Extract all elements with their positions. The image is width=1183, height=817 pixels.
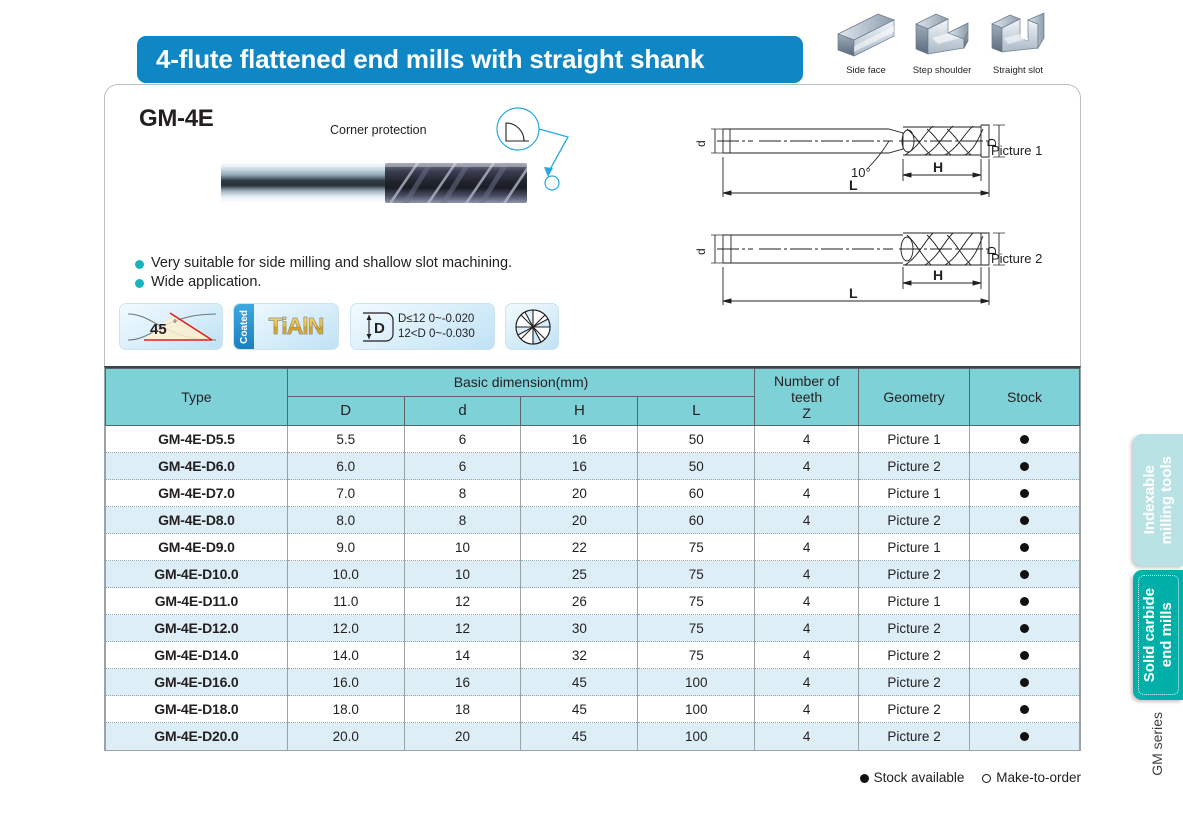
sidebar-tab-label: Solid carbideend mills <box>1141 588 1175 682</box>
cell-H: 25 <box>521 561 638 588</box>
cell-D: 8.0 <box>287 507 404 534</box>
cell-L: 75 <box>638 642 755 669</box>
cell-d: 8 <box>404 480 521 507</box>
table-row: GM-4E-D20.020.020451004Picture 2 <box>106 723 1080 750</box>
cell-d: 14 <box>404 642 521 669</box>
cell-stock <box>970 642 1080 669</box>
cell-D: 16.0 <box>287 669 404 696</box>
cell-D: 14.0 <box>287 642 404 669</box>
cell-geometry: Picture 2 <box>859 615 970 642</box>
cell-stock <box>970 588 1080 615</box>
cell-L: 50 <box>638 426 755 453</box>
tolerance-symbol: D <box>374 320 385 337</box>
cell-geometry: Picture 2 <box>859 696 970 723</box>
cell-type: GM-4E-D5.5 <box>106 426 288 453</box>
col-header-teeth: Number of teeth Z <box>755 369 859 426</box>
operation-icons: Side face Step shoulder Straight slot <box>828 4 1058 86</box>
filled-circle-icon <box>1020 624 1029 633</box>
filled-circle-icon <box>1020 705 1029 714</box>
cell-type: GM-4E-D16.0 <box>106 669 288 696</box>
helix-angle-unit: ° <box>173 319 177 330</box>
coated-label: Coated <box>239 310 250 344</box>
filled-circle-icon <box>1020 678 1029 687</box>
table-row: GM-4E-D16.016.016451004Picture 2 <box>106 669 1080 696</box>
table-row: GM-4E-D12.012.01230754Picture 2 <box>106 615 1080 642</box>
cell-D: 11.0 <box>287 588 404 615</box>
cell-d: 6 <box>404 426 521 453</box>
page-title-banner: 4-flute flattened end mills with straigh… <box>137 36 803 83</box>
cell-type: GM-4E-D6.0 <box>106 453 288 480</box>
cell-type: GM-4E-D7.0 <box>106 480 288 507</box>
table-row: GM-4E-D5.55.5616504Picture 1 <box>106 426 1080 453</box>
operation-side-face: Side face <box>828 8 904 76</box>
feature-item: Wide application. <box>135 274 555 291</box>
filled-circle-icon <box>1020 543 1029 552</box>
cell-H: 26 <box>521 588 638 615</box>
helix-angle-value: 45 <box>150 321 167 338</box>
cell-stock <box>970 669 1080 696</box>
straight-slot-icon <box>986 8 1050 64</box>
dim-label-d: d <box>694 248 708 255</box>
side-face-icon <box>834 8 898 64</box>
cell-Z: 4 <box>755 696 859 723</box>
cell-geometry: Picture 1 <box>859 480 970 507</box>
cell-stock <box>970 480 1080 507</box>
col-header-D: D <box>287 396 404 425</box>
cell-type: GM-4E-D20.0 <box>106 723 288 750</box>
helix-angle-badge: 45 ° <box>119 303 223 350</box>
cell-d: 12 <box>404 615 521 642</box>
cell-L: 50 <box>638 453 755 480</box>
cell-L: 60 <box>638 480 755 507</box>
cell-stock <box>970 615 1080 642</box>
feature-item: Very suitable for side milling and shall… <box>135 255 555 272</box>
cell-D: 12.0 <box>287 615 404 642</box>
cell-H: 45 <box>521 669 638 696</box>
operation-step-shoulder: Step shoulder <box>904 8 980 76</box>
sidebar-tab-indexable-milling-tools[interactable]: Indexablemilling tools <box>1133 434 1183 566</box>
cell-Z: 4 <box>755 723 859 750</box>
legend-label: Stock available <box>874 770 965 785</box>
cell-H: 20 <box>521 480 638 507</box>
tolerance-line-1: D≤12 0~-0.020 <box>398 312 475 327</box>
cell-d: 12 <box>404 588 521 615</box>
cell-d: 10 <box>404 534 521 561</box>
cell-D: 9.0 <box>287 534 404 561</box>
product-photo <box>213 157 543 209</box>
cell-type: GM-4E-D9.0 <box>106 534 288 561</box>
cell-geometry: Picture 1 <box>859 534 970 561</box>
cell-d: 20 <box>404 723 521 750</box>
flute-count-badge <box>505 303 559 350</box>
cell-type: GM-4E-D18.0 <box>106 696 288 723</box>
table-body: GM-4E-D5.55.5616504Picture 1GM-4E-D6.06.… <box>106 426 1080 750</box>
cell-L: 100 <box>638 696 755 723</box>
filled-circle-icon <box>1020 732 1029 741</box>
sidebar-tab-solid-carbide-end-mills[interactable]: Solid carbideend mills <box>1133 570 1183 700</box>
cell-geometry: Picture 2 <box>859 669 970 696</box>
operation-label: Step shoulder <box>904 65 980 76</box>
cell-Z: 4 <box>755 615 859 642</box>
legend-make-to-order: Make-to-order <box>982 770 1081 785</box>
dim-label-L: L <box>849 285 858 301</box>
legend-label: Make-to-order <box>996 770 1081 785</box>
cell-geometry: Picture 2 <box>859 723 970 750</box>
cell-D: 6.0 <box>287 453 404 480</box>
col-header-basic-dimension: Basic dimension(mm) <box>287 369 754 397</box>
cell-Z: 4 <box>755 453 859 480</box>
filled-circle-icon <box>1020 597 1029 606</box>
helix-angle-icon: 45 ° <box>120 304 223 350</box>
table-row: GM-4E-D18.018.018451004Picture 2 <box>106 696 1080 723</box>
coating-badge: Coated TiAlN <box>233 303 339 350</box>
cell-geometry: Picture 1 <box>859 588 970 615</box>
cell-type: GM-4E-D14.0 <box>106 642 288 669</box>
cell-H: 45 <box>521 723 638 750</box>
tolerance-line-2: 12<D 0~-0.030 <box>398 327 475 342</box>
four-flute-cross-section-icon <box>506 304 559 350</box>
table-row: GM-4E-D8.08.0820604Picture 2 <box>106 507 1080 534</box>
cell-d: 8 <box>404 507 521 534</box>
step-shoulder-icon <box>910 8 974 64</box>
hollow-circle-icon <box>982 774 991 783</box>
cell-D: 5.5 <box>287 426 404 453</box>
end-mill-photo-icon <box>213 157 543 209</box>
cell-Z: 4 <box>755 588 859 615</box>
filled-circle-icon <box>1020 651 1029 660</box>
cell-Z: 4 <box>755 480 859 507</box>
filled-circle-icon <box>1020 516 1029 525</box>
product-title: GM-4E <box>139 105 214 133</box>
series-text: GM series <box>1149 712 1165 776</box>
cell-geometry: Picture 1 <box>859 426 970 453</box>
feature-list: Very suitable for side milling and shall… <box>135 255 555 293</box>
filled-circle-icon <box>1020 462 1029 471</box>
cell-Z: 4 <box>755 426 859 453</box>
stock-legend: Stock available Make-to-order <box>0 770 1081 785</box>
table-header-row-1: Type Basic dimension(mm) Number of teeth… <box>106 369 1080 397</box>
cell-H: 30 <box>521 615 638 642</box>
table-row: GM-4E-D7.07.0820604Picture 1 <box>106 480 1080 507</box>
cell-H: 16 <box>521 453 638 480</box>
col-header-stock: Stock <box>970 369 1080 426</box>
table-row: GM-4E-D11.011.01226754Picture 1 <box>106 588 1080 615</box>
col-header-d: d <box>404 396 521 425</box>
page-title: 4-flute flattened end mills with straigh… <box>137 44 704 75</box>
coating-name: TiAlN <box>256 304 336 349</box>
table-row: GM-4E-D6.06.0616504Picture 2 <box>106 453 1080 480</box>
tolerance-text: D≤12 0~-0.020 12<D 0~-0.030 <box>398 312 475 342</box>
cell-D: 7.0 <box>287 480 404 507</box>
cell-geometry: Picture 2 <box>859 561 970 588</box>
dim-label-d: d <box>694 140 708 147</box>
cell-H: 16 <box>521 426 638 453</box>
table-row: GM-4E-D10.010.01025754Picture 2 <box>106 561 1080 588</box>
product-card: GM-4E Corner protection <box>104 84 1081 366</box>
teeth-line-2: teeth <box>757 389 856 405</box>
cell-D: 10.0 <box>287 561 404 588</box>
cell-d: 16 <box>404 669 521 696</box>
col-header-L: L <box>638 396 755 425</box>
cell-L: 100 <box>638 723 755 750</box>
feature-text: Wide application. <box>151 274 261 291</box>
sidebar-tab-label: Indexablemilling tools <box>1141 456 1175 544</box>
cell-L: 75 <box>638 615 755 642</box>
col-header-type: Type <box>106 369 288 426</box>
bullet-dot-icon <box>135 279 144 288</box>
diameter-tolerance-icon: D <box>353 304 399 350</box>
tolerance-badge: D D≤12 0~-0.020 12<D 0~-0.030 <box>350 303 495 350</box>
cell-Z: 4 <box>755 507 859 534</box>
cell-type: GM-4E-D12.0 <box>106 615 288 642</box>
sidebar-series-label: GM series <box>1137 704 1177 784</box>
filled-circle-icon <box>1020 570 1029 579</box>
dim-label-L: L <box>849 177 858 193</box>
cell-H: 22 <box>521 534 638 561</box>
cell-L: 100 <box>638 669 755 696</box>
cell-d: 10 <box>404 561 521 588</box>
cell-geometry: Picture 2 <box>859 453 970 480</box>
picture-1-label: Picture 1 <box>991 143 1042 158</box>
cell-H: 45 <box>521 696 638 723</box>
cell-L: 75 <box>638 588 755 615</box>
cell-d: 18 <box>404 696 521 723</box>
cell-stock <box>970 507 1080 534</box>
cell-L: 60 <box>638 507 755 534</box>
operation-label: Straight slot <box>980 65 1056 76</box>
cell-Z: 4 <box>755 669 859 696</box>
cell-stock <box>970 453 1080 480</box>
cell-L: 75 <box>638 561 755 588</box>
cell-Z: 4 <box>755 642 859 669</box>
cell-type: GM-4E-D11.0 <box>106 588 288 615</box>
filled-circle-icon <box>860 774 869 783</box>
cell-Z: 4 <box>755 534 859 561</box>
cell-stock <box>970 561 1080 588</box>
cell-stock <box>970 696 1080 723</box>
cell-H: 32 <box>521 642 638 669</box>
cell-D: 20.0 <box>287 723 404 750</box>
legend-stock-available: Stock available <box>860 770 969 785</box>
operation-label: Side face <box>828 65 904 76</box>
specification-table: Type Basic dimension(mm) Number of teeth… <box>104 366 1081 751</box>
cell-geometry: Picture 2 <box>859 507 970 534</box>
bullet-dot-icon <box>135 260 144 269</box>
filled-circle-icon <box>1020 435 1029 444</box>
cell-stock <box>970 534 1080 561</box>
cell-stock <box>970 426 1080 453</box>
picture-2-label: Picture 2 <box>991 251 1042 266</box>
cell-Z: 4 <box>755 561 859 588</box>
table-row: GM-4E-D9.09.01022754Picture 1 <box>106 534 1080 561</box>
filled-circle-icon <box>1020 489 1029 498</box>
cell-H: 20 <box>521 507 638 534</box>
cell-geometry: Picture 2 <box>859 642 970 669</box>
teeth-line-1: Number of <box>757 373 856 389</box>
cell-L: 75 <box>638 534 755 561</box>
operation-straight-slot: Straight slot <box>980 8 1056 76</box>
cell-stock <box>970 723 1080 750</box>
feature-text: Very suitable for side milling and shall… <box>151 255 512 272</box>
dim-label-H: H <box>933 267 943 283</box>
cell-type: GM-4E-D8.0 <box>106 507 288 534</box>
cell-type: GM-4E-D10.0 <box>106 561 288 588</box>
table-row: GM-4E-D14.014.01432754Picture 2 <box>106 642 1080 669</box>
coated-strip: Coated <box>234 304 254 349</box>
dim-label-H: H <box>933 159 943 175</box>
col-header-geometry: Geometry <box>859 369 970 426</box>
teeth-line-3: Z <box>757 405 856 421</box>
cell-D: 18.0 <box>287 696 404 723</box>
col-header-H: H <box>521 396 638 425</box>
cell-d: 6 <box>404 453 521 480</box>
